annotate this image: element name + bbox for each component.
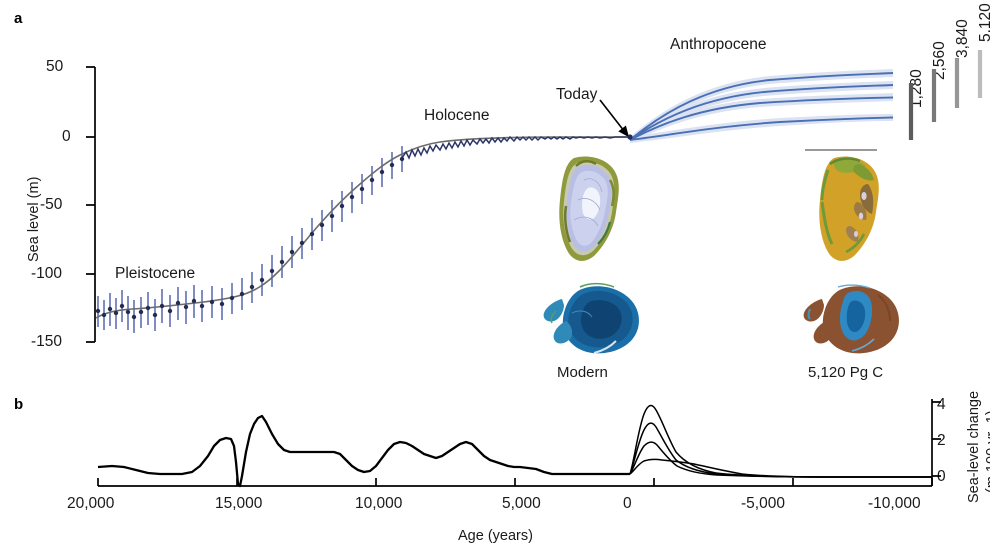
panel-b-y-axis	[932, 399, 941, 486]
reconstructed-rate-curve	[98, 416, 630, 486]
projected-rate-1280	[630, 459, 932, 477]
panel-b-x-axis	[98, 478, 932, 486]
projected-rate-5120	[630, 405, 932, 477]
figure-root: a Sea level (m) 50 0 -50 -100 -150 Pleis…	[0, 0, 990, 552]
panel-b-plot	[0, 0, 990, 552]
projected-rate-curves	[630, 405, 932, 477]
